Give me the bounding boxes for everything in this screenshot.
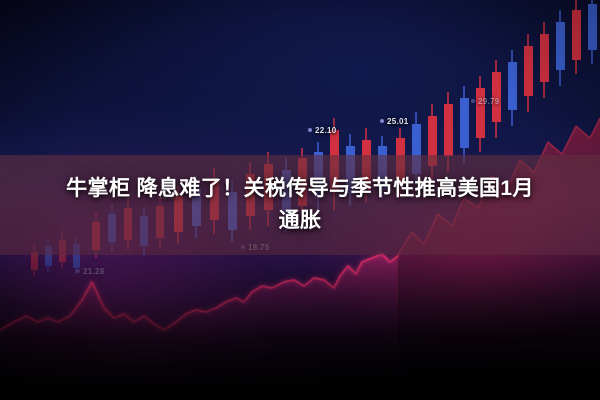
price-label-22-10: 22.10	[308, 126, 337, 135]
price-label-25-01: 25.01	[380, 117, 409, 126]
banner-image: 21.28 18.07 18.75 22.10 25.01 29.79 牛掌柜 …	[0, 0, 600, 400]
headline-line-2: 通胀	[279, 206, 322, 236]
price-label-29-79: 29.79	[471, 97, 500, 106]
headline-line-1: 牛掌柜 降息难了！关税传导与季节性推高美国1月	[58, 174, 542, 204]
price-label-21-28: 21.28	[76, 267, 105, 276]
headline: 牛掌柜 降息难了！关税传导与季节性推高美国1月 通胀	[0, 155, 600, 255]
